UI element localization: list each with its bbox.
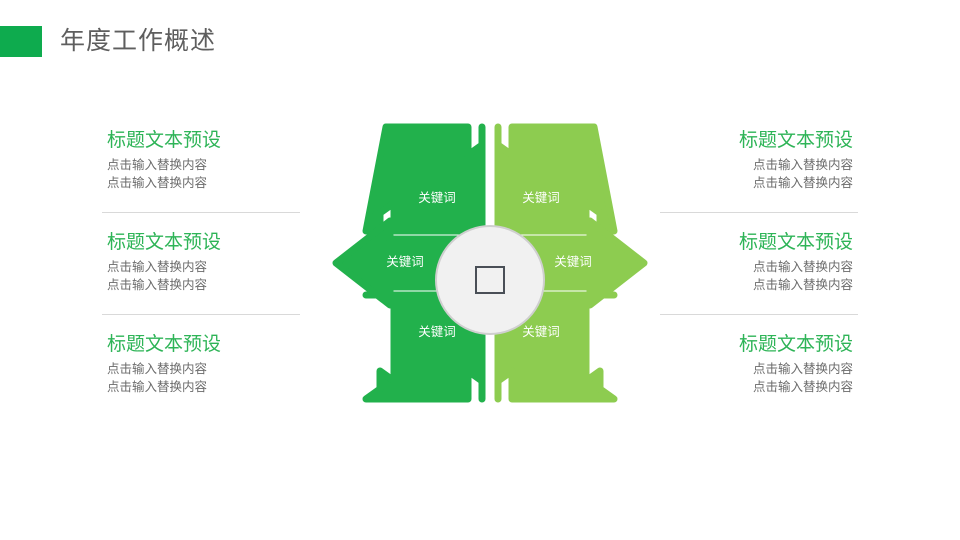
left-text-block-1[interactable]: 标题文本预设 点击输入替换内容 点击输入替换内容	[60, 128, 300, 192]
segment-label-middle-left[interactable]: 关键词	[370, 255, 440, 269]
segment-top-left-shape	[366, 127, 482, 231]
page-title: 年度工作概述	[60, 25, 216, 58]
right-block-2-line-2: 点击输入替换内容	[660, 276, 900, 294]
right-block-1-line-1: 点击输入替换内容	[660, 156, 900, 174]
left-block-1-title: 标题文本预设	[60, 128, 300, 154]
left-divider-2	[102, 314, 300, 315]
right-text-block-2[interactable]: 标题文本预设 点击输入替换内容 点击输入替换内容	[660, 230, 900, 294]
right-block-2-title: 标题文本预设	[660, 230, 900, 256]
header-accent-block	[0, 26, 42, 57]
left-block-2-line-2: 点击输入替换内容	[60, 276, 300, 294]
segment-label-top-right[interactable]: 关键词	[506, 191, 576, 205]
segment-label-middle-right[interactable]: 关键词	[538, 255, 608, 269]
segment-top-right-shape	[498, 127, 614, 231]
left-block-2-title: 标题文本预设	[60, 230, 300, 256]
right-block-3-title: 标题文本预设	[660, 332, 900, 358]
right-block-1-title: 标题文本预设	[660, 128, 900, 154]
left-block-1-line-1: 点击输入替换内容	[60, 156, 300, 174]
left-block-3-line-2: 点击输入替换内容	[60, 378, 300, 396]
square-outline-icon	[475, 266, 505, 294]
left-text-block-3[interactable]: 标题文本预设 点击输入替换内容 点击输入替换内容	[60, 332, 300, 396]
left-text-block-2[interactable]: 标题文本预设 点击输入替换内容 点击输入替换内容	[60, 230, 300, 294]
right-block-1-line-2: 点击输入替换内容	[660, 174, 900, 192]
right-block-3-line-2: 点击输入替换内容	[660, 378, 900, 396]
right-block-3-line-1: 点击输入替换内容	[660, 360, 900, 378]
right-divider-1	[660, 212, 858, 213]
right-text-block-1[interactable]: 标题文本预设 点击输入替换内容 点击输入替换内容	[660, 128, 900, 192]
slide-header: 年度工作概述	[0, 0, 960, 85]
right-block-2-line-1: 点击输入替换内容	[660, 258, 900, 276]
left-block-1-line-2: 点击输入替换内容	[60, 174, 300, 192]
segment-label-top-left[interactable]: 关键词	[402, 191, 472, 205]
diagram-center-hub[interactable]	[435, 225, 545, 335]
left-block-3-title: 标题文本预设	[60, 332, 300, 358]
left-block-3-line-1: 点击输入替换内容	[60, 360, 300, 378]
right-text-block-3[interactable]: 标题文本预设 点击输入替换内容 点击输入替换内容	[660, 332, 900, 396]
left-divider-1	[102, 212, 300, 213]
hexagon-arrow-diagram: 关键词 关键词 关键词 关键词 关键词 关键词	[330, 103, 650, 418]
right-divider-2	[660, 314, 858, 315]
left-block-2-line-1: 点击输入替换内容	[60, 258, 300, 276]
